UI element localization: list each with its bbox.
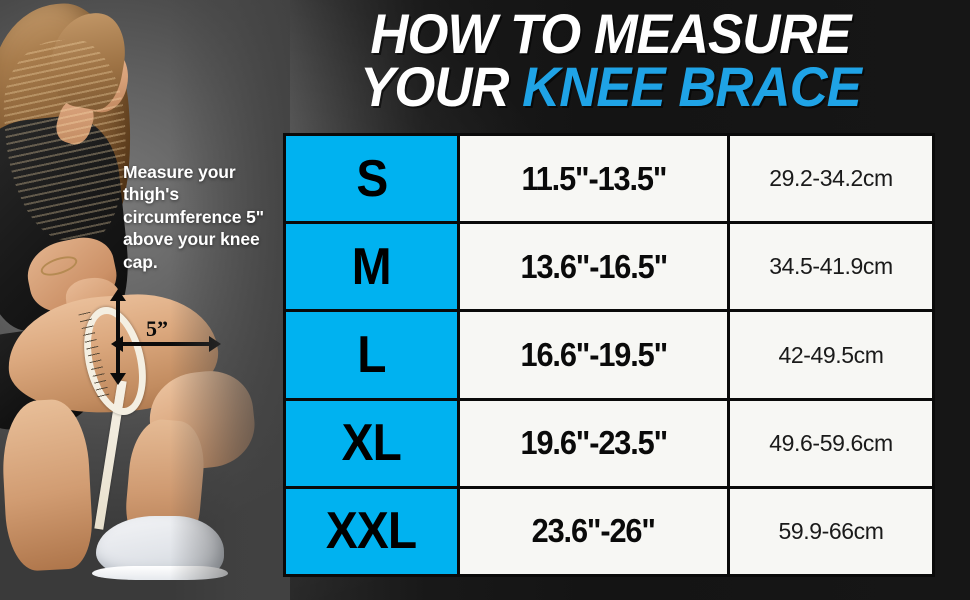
size-cell: S (286, 136, 457, 221)
inches-label: 19.6"-23.5" (520, 424, 667, 462)
size-cell: M (286, 224, 457, 309)
inches-label: 13.6"-16.5" (520, 248, 667, 286)
size-cell: XL (286, 401, 457, 486)
cm-label: 49.6-59.6cm (769, 430, 892, 457)
size-label: L (357, 325, 385, 385)
five-inch-annotation: 5” (146, 316, 168, 342)
cm-cell: 29.2-34.2cm (730, 136, 932, 221)
inches-cell: 23.6"-26" (460, 489, 727, 574)
table-row: XXL 23.6"-26" 59.9-66cm (286, 489, 932, 574)
size-chart-banner: 5” Measure your thigh's circumference 5"… (0, 0, 970, 600)
inches-cell: 13.6"-16.5" (460, 224, 727, 309)
inches-label: 11.5"-13.5" (521, 160, 666, 198)
cm-label: 34.5-41.9cm (769, 253, 892, 280)
size-label: S (356, 149, 387, 209)
model-photo: 5” (0, 0, 290, 600)
measure-instruction-text: Measure your thigh's circumference 5" ab… (123, 161, 283, 273)
inches-cell: 16.6"-19.5" (460, 312, 727, 397)
size-label: M (352, 237, 391, 297)
table-row: M 13.6"-16.5" 34.5-41.9cm (286, 224, 932, 309)
inches-cell: 11.5"-13.5" (460, 136, 727, 221)
size-table: S 11.5"-13.5" 29.2-34.2cm M 13.6"-16.5" … (283, 133, 935, 577)
cm-cell: 34.5-41.9cm (730, 224, 932, 309)
size-cell: XXL (286, 489, 457, 574)
cm-cell: 59.9-66cm (730, 489, 932, 574)
page-title-line-2: YOUR KNEE BRACE (303, 61, 919, 114)
cm-cell: 49.6-59.6cm (730, 401, 932, 486)
table-row: S 11.5"-13.5" 29.2-34.2cm (286, 136, 932, 221)
cm-cell: 42-49.5cm (730, 312, 932, 397)
inches-cell: 19.6"-23.5" (460, 401, 727, 486)
inches-label: 16.6"-19.5" (520, 336, 667, 374)
size-label: XL (342, 413, 401, 473)
cm-label: 59.9-66cm (778, 518, 883, 545)
page-title-line-2-accent: KNEE BRACE (522, 55, 861, 118)
page-title: HOW TO MEASURE YOUR KNEE BRACE (283, 8, 938, 113)
size-label: XXL (326, 501, 416, 561)
page-title-line-2-plain: YOUR (360, 55, 522, 118)
photo-edge-fade (170, 0, 290, 600)
page-title-line-1: HOW TO MEASURE (303, 8, 919, 61)
table-row: XL 19.6"-23.5" 49.6-59.6cm (286, 401, 932, 486)
cm-label: 29.2-34.2cm (769, 165, 892, 192)
table-row: L 16.6"-19.5" 42-49.5cm (286, 312, 932, 397)
cm-label: 42-49.5cm (778, 342, 883, 369)
inches-label: 23.6"-26" (532, 512, 655, 550)
size-cell: L (286, 312, 457, 397)
